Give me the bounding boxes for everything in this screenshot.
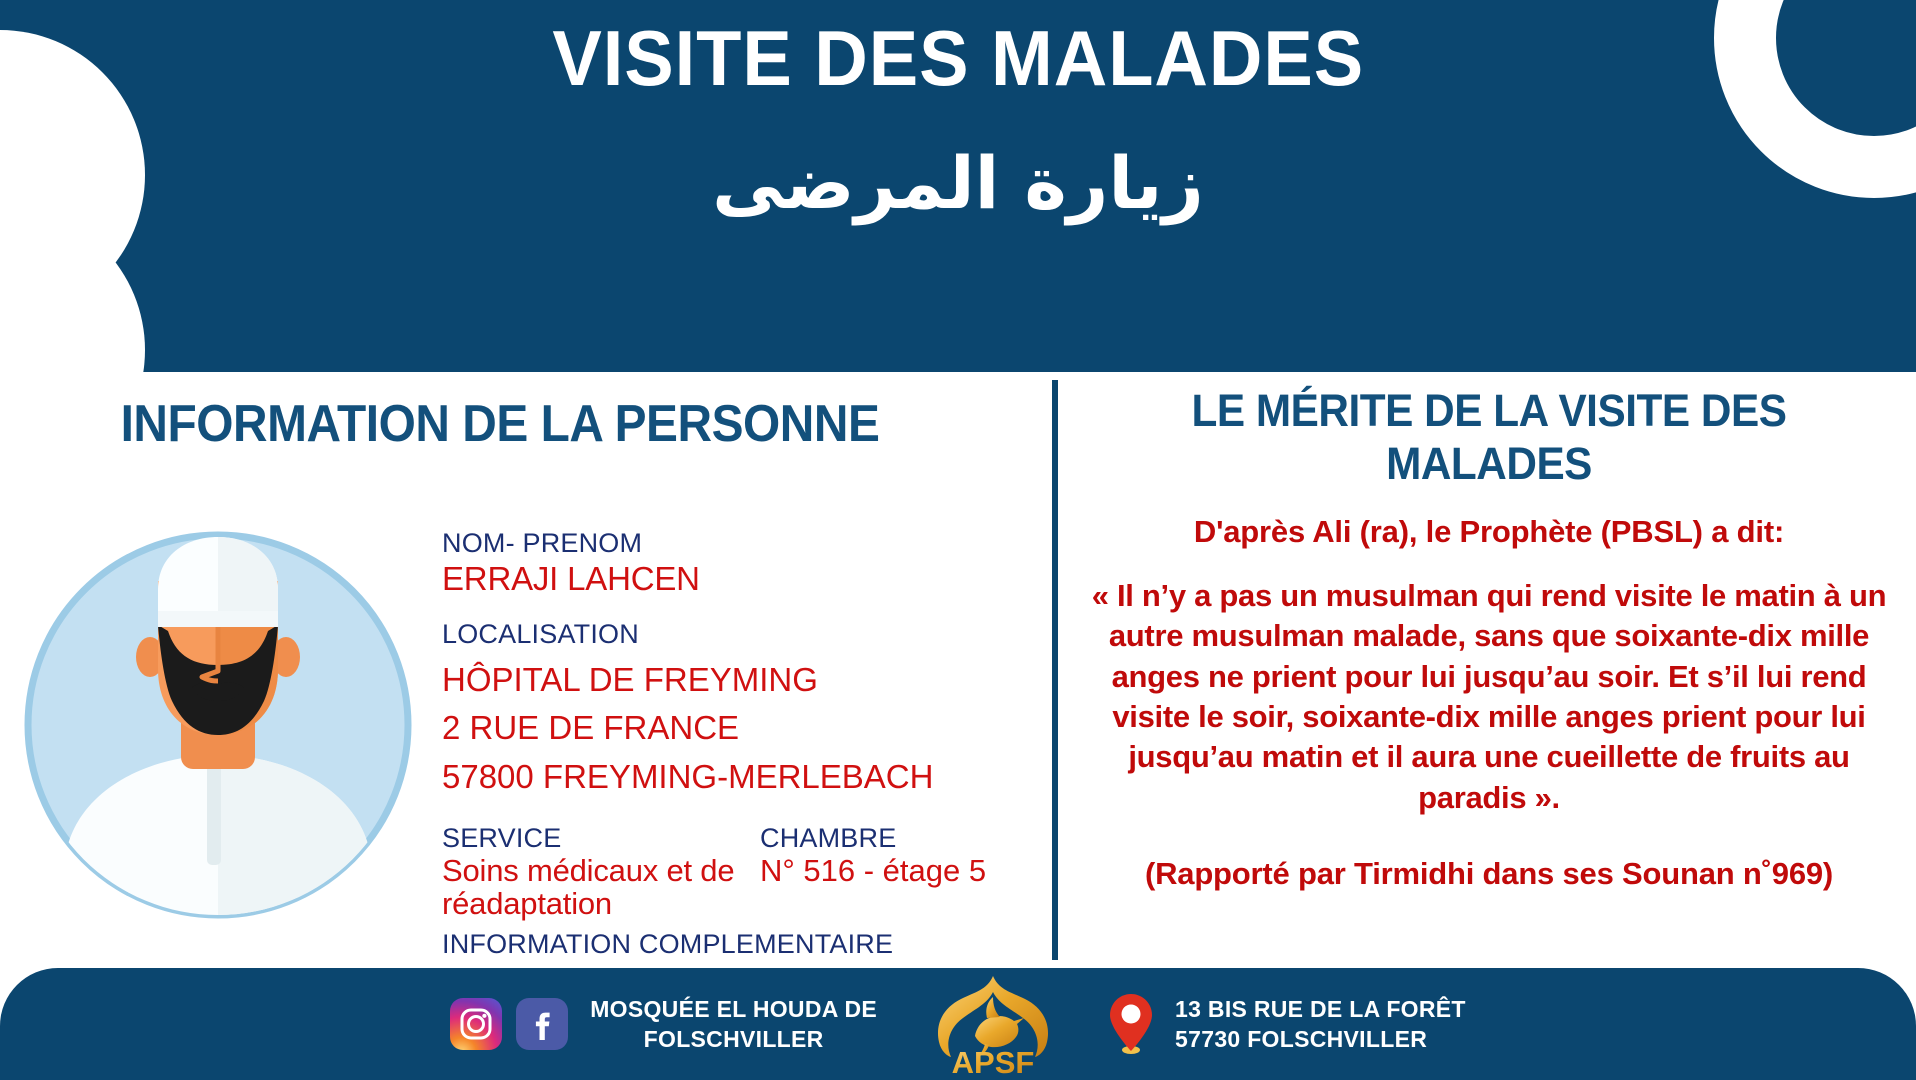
location-line-1: HÔPITAL DE FREYMING <box>442 661 1042 699</box>
service-value: Soins médicaux et de réadaptation <box>442 855 760 921</box>
vertical-divider <box>1052 380 1058 960</box>
avatar <box>22 529 414 921</box>
room-column: CHAMBRE N° 516 - étage 5 <box>760 822 1030 921</box>
instagram-glyph <box>459 1007 493 1041</box>
address-block: 13 BIS RUE DE LA FORÊT 57730 FOLSCHVILLE… <box>1109 993 1466 1055</box>
service-column: SERVICE Soins médicaux et de réadaptatio… <box>442 822 760 921</box>
avatar-illustration <box>22 529 414 921</box>
name-value: ERRAJI LAHCEN <box>442 560 1042 598</box>
room-value: N° 516 - étage 5 <box>760 855 1030 888</box>
content-area: INFORMATION DE LA PERSONNE <box>0 372 1916 968</box>
map-pin-icon <box>1109 993 1153 1055</box>
instagram-icon[interactable] <box>450 998 502 1050</box>
header-banner: VISITE DES MALADES زيارة المرضى <box>0 0 1916 372</box>
footer-content: MOSQUÉE EL HOUDA DE FOLSCHVILLER <box>450 972 1466 1076</box>
extra-information-label: INFORMATION COMPLEMENTAIRE <box>442 929 1042 960</box>
dove-arch-logo: APSF <box>931 972 1055 1076</box>
social-links <box>450 998 568 1050</box>
location-line-2: 2 RUE DE FRANCE <box>442 709 1042 747</box>
street-address: 13 BIS RUE DE LA FORÊT 57730 FOLSCHVILLE… <box>1175 994 1466 1055</box>
hadith-narrator: D'après Ali (ra), le Prophète (PBSL) a d… <box>1062 514 1916 550</box>
service-room-row: SERVICE Soins médicaux et de réadaptatio… <box>442 822 1042 921</box>
room-label: CHAMBRE <box>760 822 1030 855</box>
apsf-logo-text: APSF <box>952 1045 1035 1076</box>
mosque-name: MOSQUÉE EL HOUDA DE FOLSCHVILLER <box>590 994 877 1055</box>
hadith-source: (Rapporté par Tirmidhi dans ses Sounan n… <box>1062 856 1916 892</box>
service-label: SERVICE <box>442 822 760 855</box>
footer-bar: MOSQUÉE EL HOUDA DE FOLSCHVILLER <box>0 968 1916 1080</box>
hadith-panel: LE MÉRITE DE LA VISITE DES MALADES D'apr… <box>1062 372 1916 968</box>
poster-title-arabic: زيارة المرضى <box>712 144 1204 223</box>
name-label: NOM- PRENOM <box>442 527 1042 560</box>
person-information-panel: INFORMATION DE LA PERSONNE <box>0 372 1046 968</box>
person-information-heading: INFORMATION DE LA PERSONNE <box>40 394 960 454</box>
hadith-text: « Il n’y a pas un musulman qui rend visi… <box>1062 576 1916 818</box>
poster-title-french: VISITE DES MALADES <box>552 18 1364 100</box>
hadith-heading: LE MÉRITE DE LA VISITE DES MALADES <box>1088 384 1891 490</box>
poster-root: VISITE DES MALADES زيارة المرضى INFORMAT… <box>0 0 1916 1080</box>
facebook-glyph <box>525 1007 559 1041</box>
location-line-3: 57800 FREYMING-MERLEBACH <box>442 758 1042 796</box>
location-label: LOCALISATION <box>442 618 1042 651</box>
person-fields: NOM- PRENOM ERRAJI LAHCEN LOCALISATION H… <box>442 527 1042 960</box>
facebook-icon[interactable] <box>516 998 568 1050</box>
